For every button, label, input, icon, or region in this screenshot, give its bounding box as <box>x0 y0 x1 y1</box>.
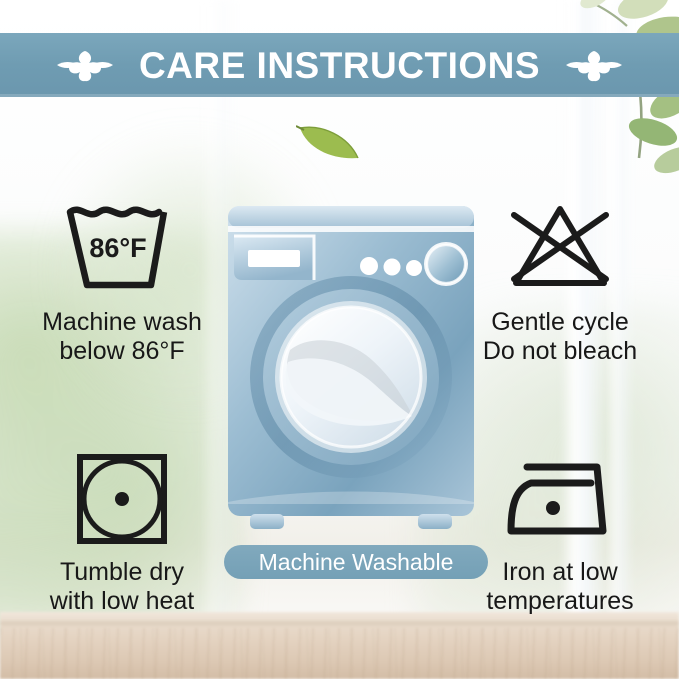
wash-tub-temperature-label: 86°F <box>89 233 146 263</box>
floating-leaf-icon <box>296 118 362 164</box>
foliage-branch-icon <box>535 0 679 202</box>
wash-tub-icon-wrap: 86°F <box>22 190 222 308</box>
wash-tub-icon: 86°F <box>63 199 181 299</box>
care-item-machine-wash: 86°F Machine wash below 86°F <box>22 190 222 366</box>
tumble-dry-low-heat-icon <box>72 449 172 549</box>
care-instructions-infographic: CARE INSTRUCTIONS 86°F Machine wash belo… <box>0 0 679 679</box>
fleur-de-lis-ornament-right-icon <box>566 45 622 85</box>
care-item-tumble-dry: Tumble dry with low heat <box>22 440 222 616</box>
care-item-gentle-cycle-caption: Gentle cycle Do not bleach <box>460 308 660 366</box>
header-banner: CARE INSTRUCTIONS <box>0 33 679 97</box>
table-edge-shadow <box>0 622 679 626</box>
page-title: CARE INSTRUCTIONS <box>139 47 540 84</box>
washing-machine-illustration <box>222 202 480 542</box>
fleur-de-lis-ornament-left-icon <box>57 45 113 85</box>
table-wood-grain <box>0 628 679 679</box>
no-bleach-icon-wrap <box>460 190 660 308</box>
care-item-iron-low: Iron at low temperatures <box>460 440 660 616</box>
tumble-dry-icon-wrap <box>22 440 222 558</box>
machine-washable-badge: Machine Washable <box>224 545 488 579</box>
iron-icon-wrap <box>460 440 660 558</box>
care-item-tumble-dry-caption: Tumble dry with low heat <box>22 558 222 616</box>
machine-washable-badge-label: Machine Washable <box>259 551 454 574</box>
care-item-machine-wash-caption: Machine wash below 86°F <box>22 308 222 366</box>
iron-low-temperature-icon <box>501 453 619 545</box>
triangle-crossed-no-bleach-icon <box>500 199 620 299</box>
care-item-gentle-cycle-no-bleach: Gentle cycle Do not bleach <box>460 190 660 366</box>
care-item-iron-caption: Iron at low temperatures <box>460 558 660 616</box>
